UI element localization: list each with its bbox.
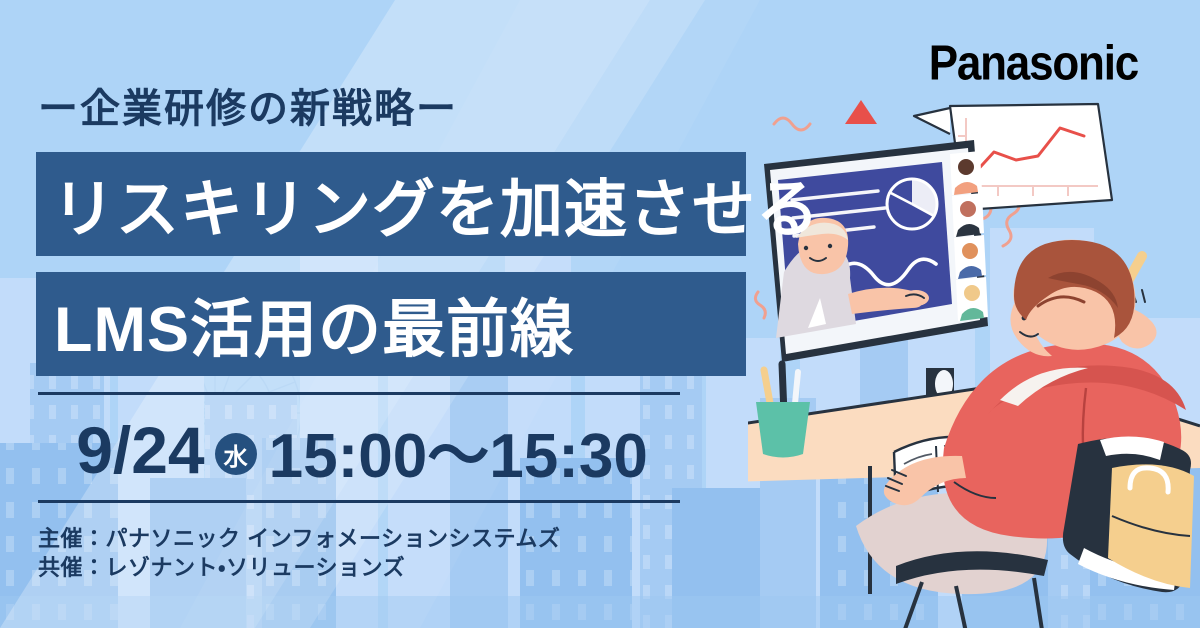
- webinar-banner: ー企業研修の新戦略ー リスキリングを加速させる LMS活用の最前線 9/24 水…: [0, 0, 1200, 628]
- schedule-time: 15:00〜15:30: [269, 405, 648, 495]
- schedule-line: 9/24 水 15:00〜15:30: [38, 404, 686, 496]
- eyebrow-text: ー企業研修の新戦略ー: [38, 76, 458, 134]
- weekday-badge: 水: [215, 433, 257, 475]
- co-organizer-text: 共催：レゾナント・ソリューションズ: [38, 553, 560, 582]
- schedule-date: 9/24: [76, 412, 204, 488]
- content-column: ー企業研修の新戦略ー リスキリングを加速させる LMS活用の最前線 9/24 水…: [0, 0, 780, 628]
- divider-top: [38, 392, 680, 395]
- panasonic-logo: Panasonic: [929, 36, 1138, 92]
- divider-bottom: [38, 500, 680, 503]
- title-line-2: LMS活用の最前線: [36, 272, 746, 376]
- title-line-2-text: LMS活用の最前線: [54, 279, 574, 370]
- host-block: 主催：パナソニック インフォメーションシステムズ 共催：レゾナント・ソリューショ…: [38, 524, 560, 582]
- title-line-1-text: リスキリングを加速させる: [52, 159, 820, 250]
- title-line-1: リスキリングを加速させる: [36, 152, 746, 256]
- organizer-text: 主催：パナソニック インフォメーションシステムズ: [38, 524, 560, 553]
